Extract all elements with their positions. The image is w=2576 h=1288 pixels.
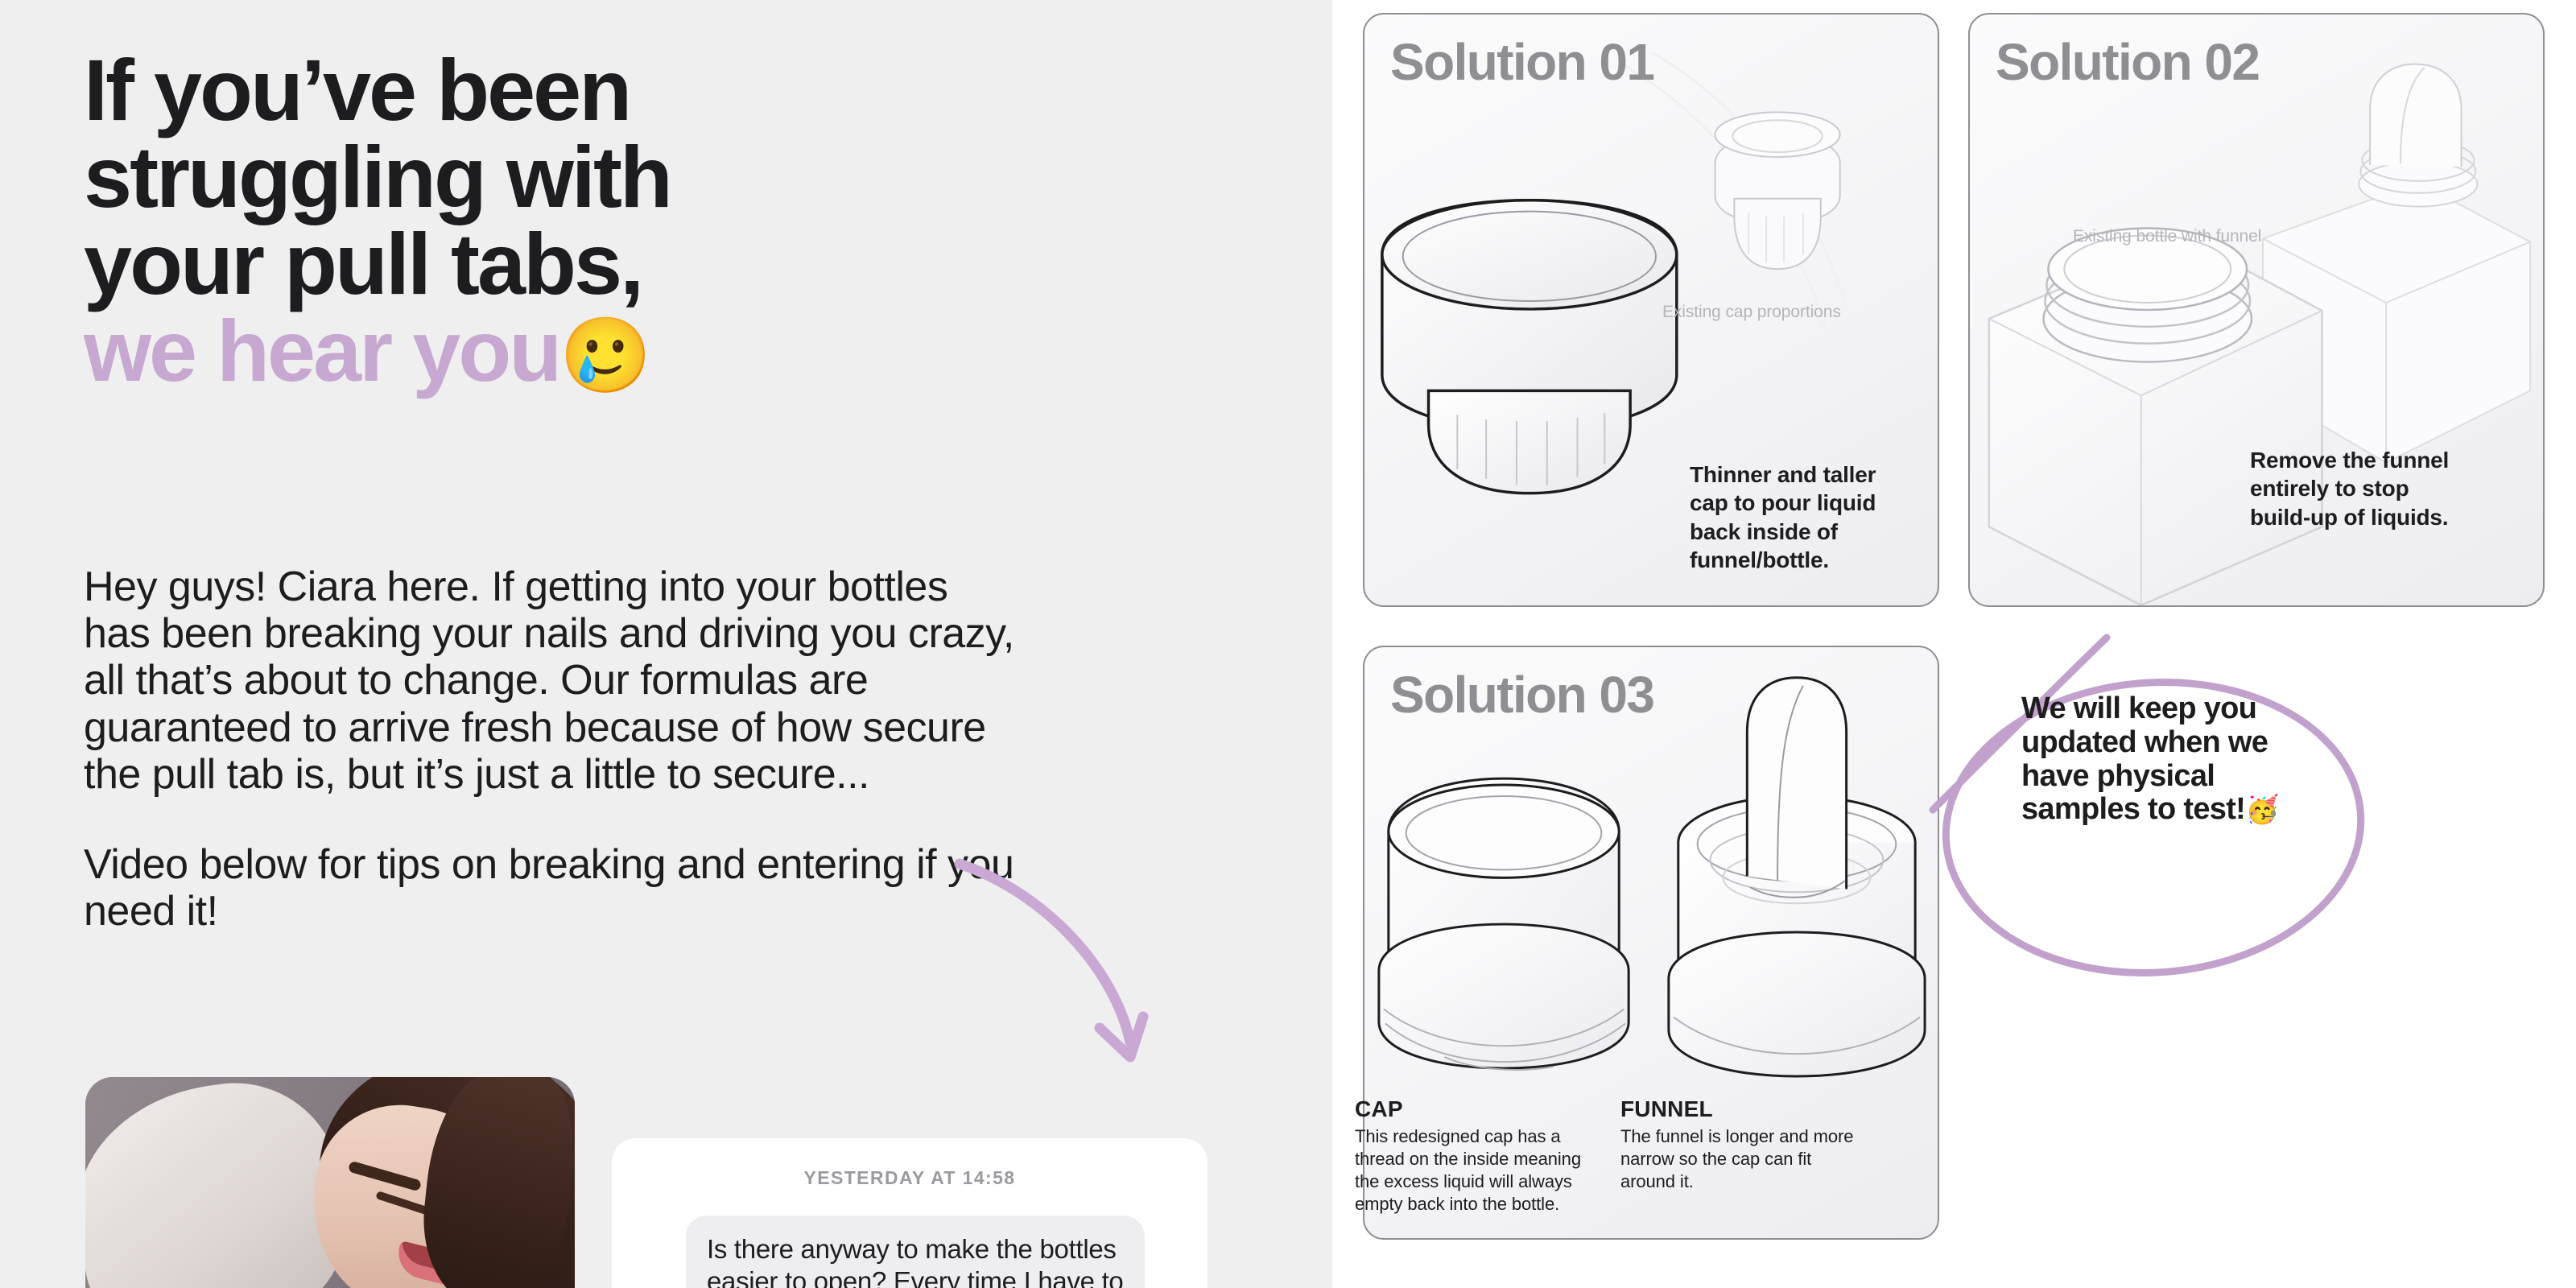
solution-card-title: Solution 01 — [1390, 32, 1653, 92]
solution-card-02[interactable]: Solution 02 Existing bottle with funnel … — [1968, 13, 2545, 607]
right-solutions-pane: Solution 01 Existing cap proportions Thi… — [1332, 0, 2576, 1288]
funnel-label: FUNNEL — [1620, 1096, 1862, 1122]
solution-note: Thinner and taller cap to pour liquid ba… — [1690, 460, 1920, 574]
body-copy: Hey guys! Ciara here. If getting into yo… — [84, 563, 1018, 935]
solution-card-01[interactable]: Solution 01 Existing cap proportions Thi… — [1363, 13, 1939, 607]
cap-label: CAP — [1355, 1096, 1596, 1122]
cap-description: This redesigned cap has a thread on the … — [1355, 1125, 1596, 1216]
headline-line-2: struggling with — [84, 128, 671, 225]
video-thumbnail[interactable] — [85, 1077, 575, 1288]
headline-accent-line: we hear you — [84, 302, 559, 399]
smiling-face-with-tear-icon: 🥲 — [559, 315, 652, 397]
headline-line-1: If you’ve been — [84, 41, 630, 138]
keep-updated-text: We will keep you updated when we have ph… — [2021, 691, 2268, 826]
solution-card-title: Solution 03 — [1390, 665, 1653, 724]
chat-timestamp: YESTERDAY AT 14:58 — [612, 1167, 1207, 1189]
keep-updated-note: We will keep you updated when we have ph… — [2021, 692, 2287, 827]
existing-bottle-label: Existing bottle with funnel — [2073, 227, 2261, 246]
screenshot-root: If you’ve been struggling with your pull… — [0, 0, 2576, 1288]
page-headline: If you’ve been struggling with your pull… — [84, 47, 1170, 394]
chat-card: YESTERDAY AT 14:58 Is there anyway to ma… — [612, 1138, 1207, 1288]
partying-face-icon: 🥳 — [2245, 795, 2279, 825]
solution-note: Remove the funnel entirely to stop build… — [2250, 446, 2469, 531]
chat-message-bubble[interactable]: Is there anyway to make the bottles easi… — [686, 1216, 1145, 1288]
body-paragraph-2: Video below for tips on breaking and ent… — [84, 841, 1018, 935]
headline-line-3: your pull tabs, — [84, 215, 642, 312]
funnel-description-block: FUNNEL The funnel is longer and more nar… — [1620, 1096, 1862, 1193]
left-content-pane: If you’ve been struggling with your pull… — [0, 0, 1332, 1288]
funnel-description: The funnel is longer and more narrow so … — [1620, 1125, 1862, 1193]
cap-description-block: CAP This redesigned cap has a thread on … — [1355, 1096, 1596, 1216]
existing-cap-label: Existing cap proportions — [1662, 303, 1841, 322]
body-paragraph-1: Hey guys! Ciara here. If getting into yo… — [84, 563, 1018, 798]
solution-card-title: Solution 02 — [1996, 32, 2259, 92]
